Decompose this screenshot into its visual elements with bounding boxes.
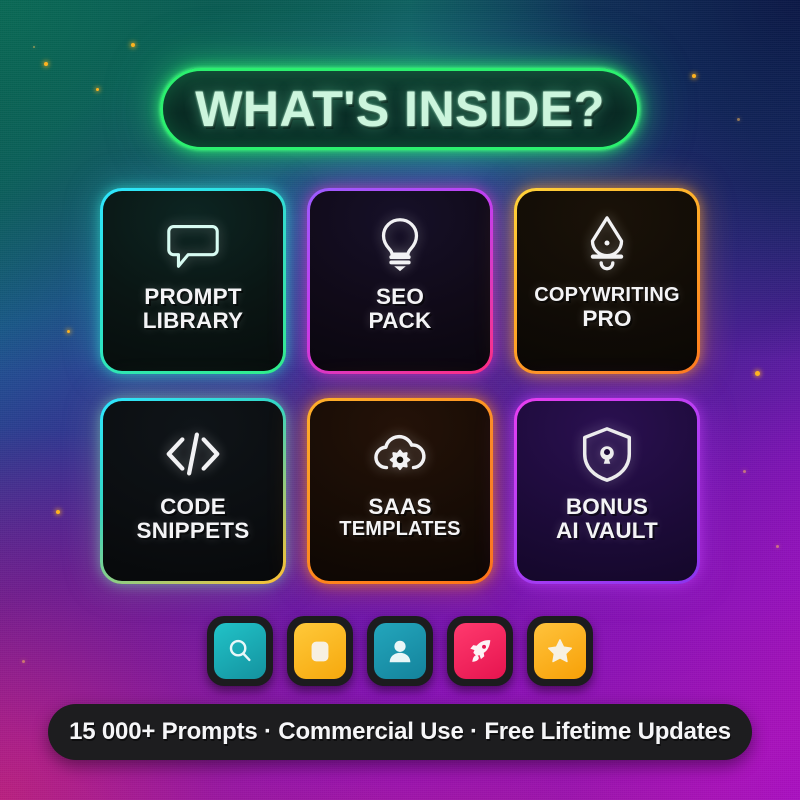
- app-icon-row: [0, 616, 800, 686]
- app-tile: [214, 623, 266, 679]
- app-icon-profile[interactable]: [367, 616, 433, 686]
- feature-card-bonus-ai-vault[interactable]: BONUS AI VAULT: [514, 398, 700, 584]
- feature-card-copywriting-pro[interactable]: COPYWRITING PRO: [514, 188, 700, 374]
- card-label-line2: AI VAULT: [552, 519, 662, 543]
- app-icon-search[interactable]: [207, 616, 273, 686]
- person-icon: [385, 636, 415, 666]
- sparkle-particle: [692, 74, 696, 78]
- page-title-pill: WHAT'S INSIDE?: [160, 68, 640, 150]
- rounded-square-icon: [305, 636, 335, 666]
- rocket-icon: [465, 636, 495, 666]
- sparkle-particle: [56, 510, 60, 514]
- card-label-line1: SAAS: [364, 495, 435, 519]
- footer-banner: 15 000+ Prompts · Commercial Use · Free …: [48, 704, 752, 760]
- card-label-line1: COPYWRITING: [530, 285, 684, 307]
- card-label-line1: CODE: [156, 495, 230, 519]
- card-body: SEO PACK: [310, 191, 490, 371]
- sparkle-particle: [44, 62, 48, 66]
- card-body: SAAS TEMPLATES: [310, 401, 490, 581]
- page-title: WHAT'S INSIDE?: [195, 80, 605, 138]
- card-body: PROMPT LIBRARY: [103, 191, 283, 371]
- poster-canvas: WHAT'S INSIDE? PROMPT LIBRARY: [0, 0, 800, 800]
- sparkle-particle: [131, 43, 135, 47]
- shield-keyhole-icon: [576, 423, 638, 485]
- app-tile: [534, 623, 586, 679]
- sparkle-particle: [737, 118, 740, 121]
- card-label-line2: PRO: [578, 307, 635, 331]
- app-tile: [454, 623, 506, 679]
- sparkle-particle: [743, 470, 746, 473]
- card-label-line1: SEO: [372, 285, 428, 309]
- lightbulb-icon: [369, 213, 431, 275]
- app-icon-document[interactable]: [287, 616, 353, 686]
- feature-card-grid: PROMPT LIBRARY SEO PACK: [100, 188, 700, 584]
- star-icon: [545, 636, 575, 666]
- card-body: COPYWRITING PRO: [517, 191, 697, 371]
- sparkle-particle: [776, 545, 779, 548]
- cloud-gear-icon: [369, 423, 431, 485]
- app-icon-star[interactable]: [527, 616, 593, 686]
- feature-card-seo-pack[interactable]: SEO PACK: [307, 188, 493, 374]
- magnifier-icon: [225, 636, 255, 666]
- app-tile: [294, 623, 346, 679]
- sparkle-particle: [33, 46, 35, 48]
- card-label-line1: PROMPT: [140, 285, 245, 309]
- feature-card-code-snippets[interactable]: CODE SNIPPETS: [100, 398, 286, 584]
- speech-bubble-icon: [162, 213, 224, 275]
- card-body: CODE SNIPPETS: [103, 401, 283, 581]
- card-label-line2: PACK: [365, 309, 436, 333]
- card-label-line2: SNIPPETS: [133, 519, 254, 543]
- sparkle-particle: [96, 88, 99, 91]
- feature-card-saas-templates[interactable]: SAAS TEMPLATES: [307, 398, 493, 584]
- code-brackets-icon: [162, 423, 224, 485]
- card-label-line1: BONUS: [562, 495, 652, 519]
- sparkle-particle: [755, 371, 760, 376]
- sparkle-particle: [67, 330, 70, 333]
- feature-card-prompt-library[interactable]: PROMPT LIBRARY: [100, 188, 286, 374]
- card-label-line2: TEMPLATES: [335, 519, 464, 541]
- card-body: BONUS AI VAULT: [517, 401, 697, 581]
- page-title-container: WHAT'S INSIDE?: [160, 68, 640, 150]
- app-tile: [374, 623, 426, 679]
- footer-banner-text: 15 000+ Prompts · Commercial Use · Free …: [69, 718, 731, 746]
- card-label-line2: LIBRARY: [139, 309, 248, 333]
- pen-nib-icon: [576, 213, 638, 275]
- app-icon-rocket[interactable]: [447, 616, 513, 686]
